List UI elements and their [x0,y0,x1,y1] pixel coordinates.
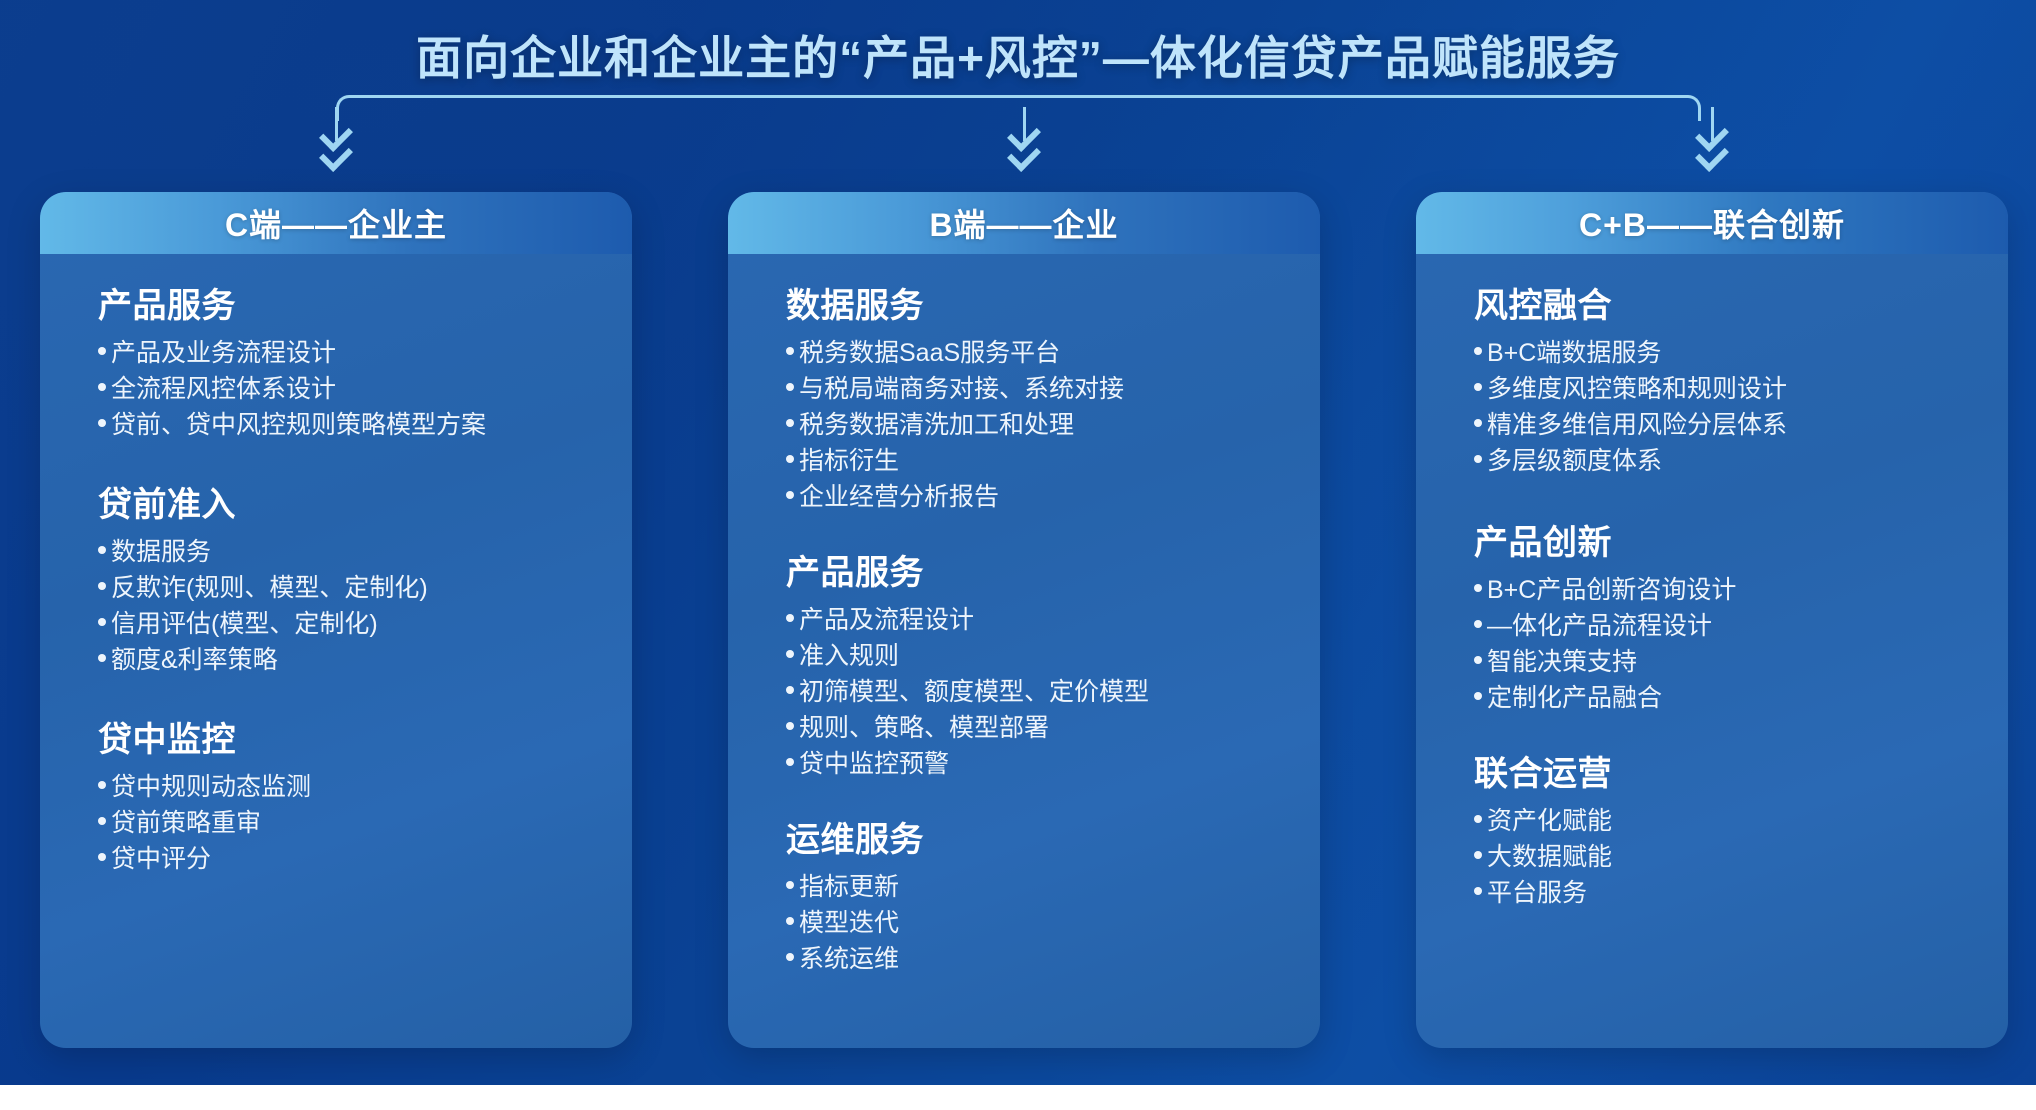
list-item-label: 与税局端商务对接、系统对接 [799,371,1124,407]
double-chevron-down-icon [1690,107,1734,179]
list-item-label: 规则、策略、模型部署 [799,710,1049,746]
bullet-icon [786,953,794,961]
list-item: 税务数据清洗加工和处理 [786,407,1286,443]
list-item-label: 指标衍生 [799,443,899,479]
list-item: 税务数据SaaS服务平台 [786,335,1286,371]
list-item-label: 定制化产品融合 [1487,680,1662,716]
double-chevron-down-icon [314,107,358,179]
list-item-label: 产品及业务流程设计 [111,335,336,371]
bullet-icon [786,722,794,730]
bullet-icon [1474,584,1482,592]
bullet-icon [98,618,106,626]
list-item: 系统运维 [786,941,1286,977]
list-item-label: 多维度风控策略和规则设计 [1487,371,1787,407]
section-title: 联合运营 [1474,746,1974,795]
list-item: 全流程风控体系设计 [98,371,598,407]
list-item: 贷中规则动态监测 [98,769,598,805]
connector-horizontal-bar [349,95,1688,98]
section-data-service: 数据服务 税务数据SaaS服务平台 与税局端商务对接、系统对接 税务数据清洗加工… [786,278,1286,515]
list-item: 平台服务 [1474,875,1974,911]
bullet-icon [1474,851,1482,859]
list-item-label: B+C端数据服务 [1487,335,1661,371]
section-list: 产品及业务流程设计 全流程风控体系设计 贷前、贷中风控规则策略模型方案 [98,335,598,443]
bullet-icon [1474,620,1482,628]
list-item: B+C产品创新咨询设计 [1474,572,1974,608]
slide-stage: 面向企业和企业主的“产品+风控”—体化信贷产品赋能服务 [0,0,2036,1110]
list-item: 企业经营分析报告 [786,479,1286,515]
card-header-label: C端——企业主 [225,200,447,246]
section-title: 贷前准入 [98,477,598,526]
list-item: 初筛模型、额度模型、定价模型 [786,674,1286,710]
list-item: 贷中监控预警 [786,746,1286,782]
list-item-label: 贷中评分 [111,841,211,877]
section-title: 产品服务 [98,278,598,327]
section-in-loan-monitoring: 贷中监控 贷中规则动态监测 贷前策略重审 贷中评分 [98,712,598,877]
section-list: 贷中规则动态监测 贷前策略重审 贷中评分 [98,769,598,877]
bullet-icon [98,654,106,662]
bracket-connector [0,95,2036,195]
list-item: 指标衍生 [786,443,1286,479]
bullet-icon [98,853,106,861]
bullet-icon [1474,455,1482,463]
bullet-icon [98,582,106,590]
card-c-plus-b[interactable]: C+B——联合创新 风控融合 B+C端数据服务 多维度风控策略和规则设计 精准多… [1416,192,2008,1048]
section-list: 指标更新 模型迭代 系统运维 [786,869,1286,977]
section-title: 贷中监控 [98,712,598,761]
bullet-icon [786,758,794,766]
section-joint-operation: 联合运营 资产化赋能 大数据赋能 平台服务 [1474,746,1974,911]
list-item-label: 贷中监控预警 [799,746,949,782]
list-item-label: 数据服务 [111,534,211,570]
bullet-icon [1474,383,1482,391]
section-title: 产品创新 [1474,515,1974,564]
section-list: 税务数据SaaS服务平台 与税局端商务对接、系统对接 税务数据清洗加工和处理 指… [786,335,1286,515]
section-product-service: 产品服务 产品及业务流程设计 全流程风控体系设计 贷前、贷中风控规则策略模型方案 [98,278,598,443]
section-list: 产品及流程设计 准入规则 初筛模型、额度模型、定价模型 规则、策略、模型部署 贷… [786,602,1286,782]
bullet-icon [786,917,794,925]
list-item: 反欺诈(规则、模型、定制化) [98,570,598,606]
list-item-label: 企业经营分析报告 [799,479,999,515]
card-header-c-end: C端——企业主 [40,192,632,254]
list-item-label: 大数据赋能 [1487,839,1612,875]
list-item-label: 系统运维 [799,941,899,977]
bullet-icon [98,817,106,825]
list-item-label: 产品及流程设计 [799,602,974,638]
bullet-icon [786,491,794,499]
list-item: 精准多维信用风险分层体系 [1474,407,1974,443]
list-item: 模型迭代 [786,905,1286,941]
card-body-c-plus-b: 风控融合 B+C端数据服务 多维度风控策略和规则设计 精准多维信用风险分层体系 … [1416,254,2008,911]
list-item-label: 准入规则 [799,638,899,674]
section-product-service: 产品服务 产品及流程设计 准入规则 初筛模型、额度模型、定价模型 规则、策略、模… [786,545,1286,782]
section-title: 产品服务 [786,545,1286,594]
bullet-icon [1474,815,1482,823]
list-item: 贷前策略重审 [98,805,598,841]
slide-canvas: 面向企业和企业主的“产品+风控”—体化信贷产品赋能服务 [0,0,2036,1085]
card-header-c-plus-b: C+B——联合创新 [1416,192,2008,254]
list-item-label: 税务数据SaaS服务平台 [799,335,1060,371]
list-item: 产品及流程设计 [786,602,1286,638]
section-list: B+C端数据服务 多维度风控策略和规则设计 精准多维信用风险分层体系 多层级额度… [1474,335,1974,479]
list-item: 多维度风控策略和规则设计 [1474,371,1974,407]
bullet-icon [786,419,794,427]
card-header-label: B端——企业 [929,200,1118,246]
list-item-label: 反欺诈(规则、模型、定制化) [111,570,428,606]
list-item: 资产化赋能 [1474,803,1974,839]
list-item-label: 全流程风控体系设计 [111,371,336,407]
section-list: 数据服务 反欺诈(规则、模型、定制化) 信用评估(模型、定制化) 额度&利率策略 [98,534,598,678]
card-body-b-end: 数据服务 税务数据SaaS服务平台 与税局端商务对接、系统对接 税务数据清洗加工… [728,254,1320,977]
card-header-b-end: B端——企业 [728,192,1320,254]
bullet-icon [786,686,794,694]
section-title: 运维服务 [786,812,1286,861]
bullet-icon [786,650,794,658]
bullet-icon [786,881,794,889]
bullet-icon [786,347,794,355]
card-b-end[interactable]: B端——企业 数据服务 税务数据SaaS服务平台 与税局端商务对接、系统对接 税… [728,192,1320,1048]
list-item: 贷前、贷中风控规则策略模型方案 [98,407,598,443]
bullet-icon [98,546,106,554]
list-item-label: 贷前、贷中风控规则策略模型方案 [111,407,486,443]
list-item-label: 模型迭代 [799,905,899,941]
section-title: 风控融合 [1474,278,1974,327]
bullet-icon [98,347,106,355]
section-list: 资产化赋能 大数据赋能 平台服务 [1474,803,1974,911]
list-item-label: 指标更新 [799,869,899,905]
list-item-label: 智能决策支持 [1487,644,1637,680]
bullet-icon [98,419,106,427]
list-item-label: 精准多维信用风险分层体系 [1487,407,1787,443]
section-title: 数据服务 [786,278,1286,327]
list-item-label: 贷前策略重审 [111,805,261,841]
column-group: C端——企业主 产品服务 产品及业务流程设计 全流程风控体系设计 贷前、贷中风控… [0,192,2036,1052]
bullet-icon [786,455,794,463]
bullet-icon [786,614,794,622]
list-item: B+C端数据服务 [1474,335,1974,371]
list-item: 与税局端商务对接、系统对接 [786,371,1286,407]
section-pre-loan-access: 贷前准入 数据服务 反欺诈(规则、模型、定制化) 信用评估(模型、定制化) 额度… [98,477,598,678]
bullet-icon [786,383,794,391]
list-item: 信用评估(模型、定制化) [98,606,598,642]
section-product-innovation: 产品创新 B+C产品创新咨询设计 —体化产品流程设计 智能决策支持 定制化产品融… [1474,515,1974,716]
double-chevron-down-icon [1002,107,1046,179]
list-item: 智能决策支持 [1474,644,1974,680]
bullet-icon [1474,656,1482,664]
list-item-label: 额度&利率策略 [111,642,278,678]
list-item: —体化产品流程设计 [1474,608,1974,644]
list-item: 产品及业务流程设计 [98,335,598,371]
list-item-label: 资产化赋能 [1487,803,1612,839]
card-body-c-end: 产品服务 产品及业务流程设计 全流程风控体系设计 贷前、贷中风控规则策略模型方案… [40,254,632,877]
list-item-label: —体化产品流程设计 [1487,608,1712,644]
bullet-icon [98,781,106,789]
list-item: 数据服务 [98,534,598,570]
list-item-label: 平台服务 [1487,875,1587,911]
card-c-end[interactable]: C端——企业主 产品服务 产品及业务流程设计 全流程风控体系设计 贷前、贷中风控… [40,192,632,1048]
page-title: 面向企业和企业主的“产品+风控”—体化信贷产品赋能服务 [0,22,2036,88]
list-item-label: 信用评估(模型、定制化) [111,606,378,642]
bullet-icon [1474,347,1482,355]
bullet-icon [1474,692,1482,700]
bullet-icon [98,383,106,391]
list-item: 多层级额度体系 [1474,443,1974,479]
list-item: 大数据赋能 [1474,839,1974,875]
list-item: 定制化产品融合 [1474,680,1974,716]
section-risk-fusion: 风控融合 B+C端数据服务 多维度风控策略和规则设计 精准多维信用风险分层体系 … [1474,278,1974,479]
list-item: 指标更新 [786,869,1286,905]
bullet-icon [1474,887,1482,895]
section-list: B+C产品创新咨询设计 —体化产品流程设计 智能决策支持 定制化产品融合 [1474,572,1974,716]
section-ops-service: 运维服务 指标更新 模型迭代 系统运维 [786,812,1286,977]
list-item: 规则、策略、模型部署 [786,710,1286,746]
bullet-icon [1474,419,1482,427]
list-item-label: 税务数据清洗加工和处理 [799,407,1074,443]
list-item-label: 多层级额度体系 [1487,443,1662,479]
list-item: 额度&利率策略 [98,642,598,678]
list-item: 准入规则 [786,638,1286,674]
list-item: 贷中评分 [98,841,598,877]
list-item-label: 初筛模型、额度模型、定价模型 [799,674,1149,710]
list-item-label: B+C产品创新咨询设计 [1487,572,1736,608]
card-header-label: C+B——联合创新 [1579,200,1845,246]
list-item-label: 贷中规则动态监测 [111,769,311,805]
